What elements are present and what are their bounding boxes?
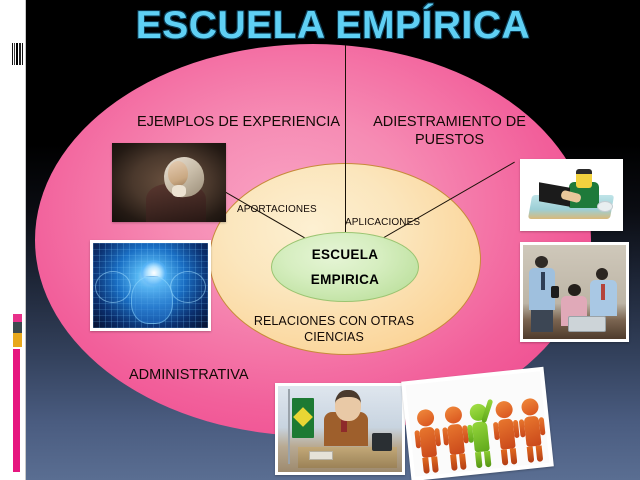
digital-brain-image	[90, 240, 211, 331]
slide-content: ESCUELA EMPÍRICA EJEMPLOS DE EXPERIENCIA…	[26, 0, 640, 480]
label-aplicaciones: APLICACIONES	[345, 216, 420, 229]
core-ellipse: ESCUELA EMPIRICA	[271, 232, 419, 302]
rail-chip-pink	[13, 314, 22, 322]
page-title: ESCUELA EMPÍRICA	[26, 4, 640, 48]
label-adiestramiento-de-puestos: ADIESTRAMIENTO DE PUESTOS	[352, 113, 547, 149]
barcode-icon	[12, 43, 23, 65]
label-relaciones-con-otras-ciencias: RELACIONES CON OTRAS CIENCIAS	[239, 314, 429, 345]
label-aportaciones: APORTACIONES	[237, 203, 317, 216]
clay-figures-image	[401, 367, 554, 480]
label-ejemplos-de-experiencia: EJEMPLOS DE EXPERIENCIA	[131, 113, 346, 131]
rail-divider	[25, 0, 26, 480]
office-cartoon-image	[275, 383, 405, 475]
team-training-photo	[520, 242, 629, 342]
rail-chip-yellow	[13, 333, 22, 347]
slide-canvas: ESCUELA EMPÍRICA EJEMPLOS DE EXPERIENCIA…	[0, 0, 640, 480]
core-label-line1: ESCUELA	[312, 248, 379, 262]
portrait-philosopher-image	[112, 143, 226, 222]
core-label-line2: EMPIRICA	[311, 273, 379, 287]
label-administrativa: ADMINISTRATIVA	[129, 366, 289, 384]
rail-chip-dark	[13, 322, 22, 333]
rail-vertical-bar	[13, 349, 20, 472]
laptop-worker-illustration	[520, 159, 623, 231]
